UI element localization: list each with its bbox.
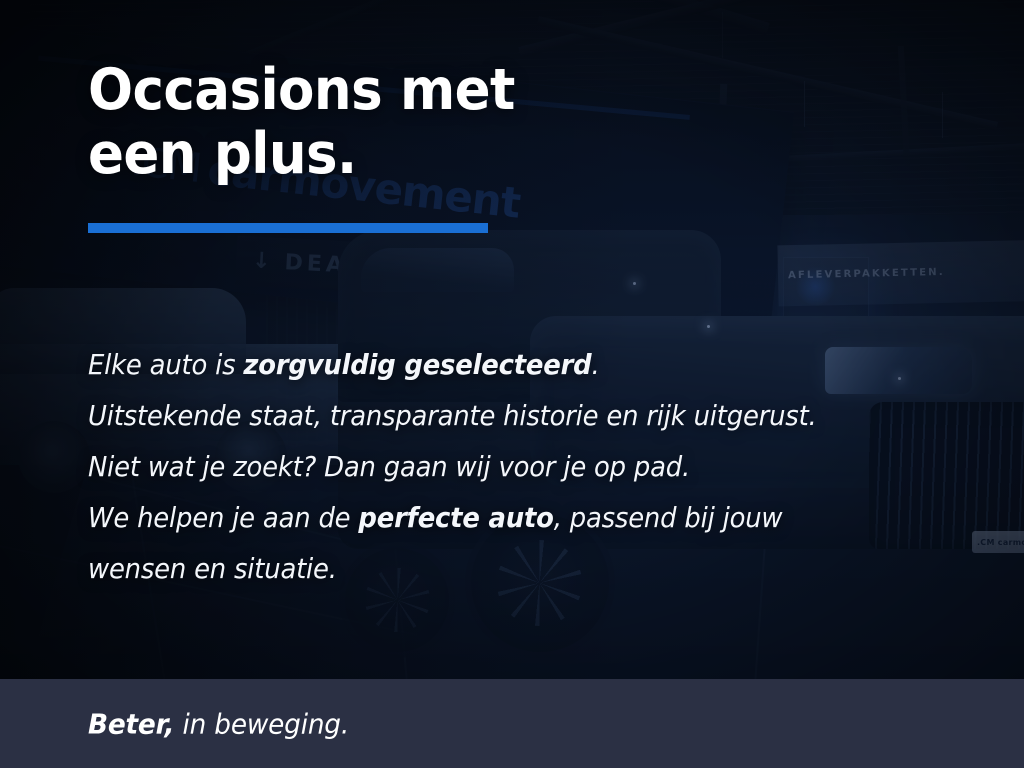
body-copy-text: Elke auto is bbox=[88, 349, 243, 381]
page-title: Occasions met een plus. bbox=[88, 58, 515, 187]
body-copy-text: We helpen je aan de bbox=[88, 502, 358, 534]
body-copy-text: , passend bij jouw bbox=[554, 502, 783, 534]
body-copy: Elke auto is zorgvuldig geselecteerd.Uit… bbox=[88, 340, 915, 595]
body-copy-line: We helpen je aan de perfecte auto, passe… bbox=[88, 493, 915, 544]
body-copy-line: wensen en situatie. bbox=[88, 544, 915, 595]
body-copy-emphasis: zorgvuldig geselecteerd bbox=[243, 349, 591, 381]
body-copy-text: . bbox=[591, 349, 599, 381]
footer-bar: Beter, in beweging. bbox=[0, 679, 1024, 768]
body-copy-text: Niet wat je zoekt? Dan gaan wij voor je … bbox=[88, 451, 690, 483]
footer-tagline-rest: in beweging. bbox=[174, 707, 349, 740]
poster-content: Occasions met een plus. Elke auto is zor… bbox=[0, 0, 1024, 768]
body-copy-line: Niet wat je zoekt? Dan gaan wij voor je … bbox=[88, 442, 915, 493]
footer-tagline-bold: Beter, bbox=[88, 707, 174, 740]
body-copy-line: Elke auto is zorgvuldig geselecteerd. bbox=[88, 340, 915, 391]
body-copy-emphasis: perfecte auto bbox=[358, 502, 553, 534]
footer-tagline: Beter, in beweging. bbox=[88, 707, 349, 740]
accent-bar bbox=[88, 223, 488, 233]
poster: .CM .CM carmovement ↓ DEALERO AFLEVERPAK… bbox=[0, 0, 1024, 768]
body-copy-text: Uitstekende staat, transparante historie… bbox=[88, 400, 817, 432]
body-copy-line: Uitstekende staat, transparante historie… bbox=[88, 391, 915, 442]
body-copy-text: wensen en situatie. bbox=[88, 553, 337, 585]
